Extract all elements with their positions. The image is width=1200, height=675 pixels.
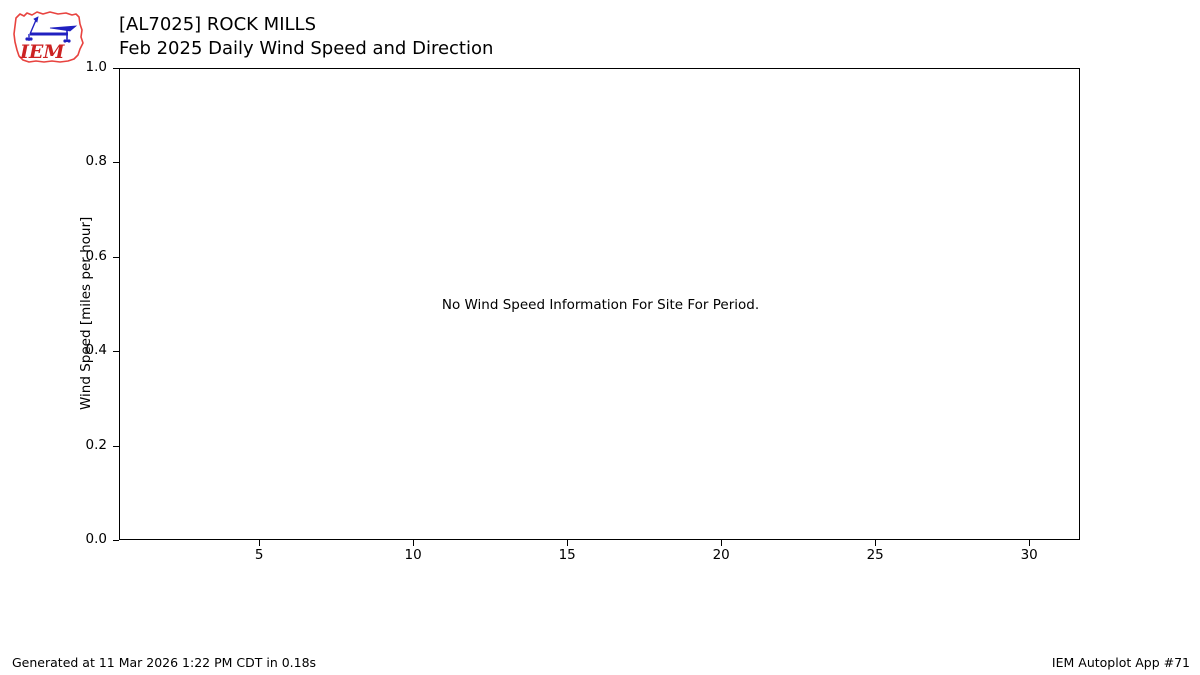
- y-tick-label: 0.2: [47, 438, 107, 452]
- plot-area: No Wind Speed Information For Site For P…: [119, 68, 1080, 540]
- x-tick-mark: [413, 540, 414, 546]
- x-tick-mark: [259, 540, 260, 546]
- chart-title-line-1: [AL7025] ROCK MILLS: [119, 13, 493, 37]
- no-data-message: No Wind Speed Information For Site For P…: [120, 69, 1081, 541]
- y-tick-mark: [113, 540, 119, 541]
- y-tick-label: 0.4: [47, 343, 107, 357]
- y-axis-label: Wind Speed [miles per hour]: [78, 190, 94, 410]
- x-tick-label: 5: [229, 548, 289, 562]
- x-tick-mark: [1029, 540, 1030, 546]
- footer-app-text: IEM Autoplot App #71: [1052, 655, 1190, 670]
- x-tick-label: 25: [845, 548, 905, 562]
- chart-title-block: [AL7025] ROCK MILLS Feb 2025 Daily Wind …: [119, 13, 493, 61]
- autoplot-figure: IEM [AL7025] ROCK MILLS Feb 2025 Daily W…: [0, 0, 1200, 675]
- x-tick-label: 30: [999, 548, 1059, 562]
- x-tick-label: 20: [691, 548, 751, 562]
- x-tick-mark: [721, 540, 722, 546]
- anemometer-icon: [25, 17, 76, 43]
- iem-logo[interactable]: IEM: [10, 8, 88, 66]
- y-tick-label: 0.6: [47, 249, 107, 263]
- x-tick-mark: [567, 540, 568, 546]
- y-tick-label: 0.8: [47, 154, 107, 168]
- chart-title-line-2: Feb 2025 Daily Wind Speed and Direction: [119, 37, 493, 61]
- y-tick-label: 0.0: [47, 532, 107, 546]
- x-tick-mark: [875, 540, 876, 546]
- iem-wordmark: IEM: [19, 41, 65, 63]
- x-tick-label: 15: [537, 548, 597, 562]
- x-tick-label: 10: [383, 548, 443, 562]
- footer-generated-text: Generated at 11 Mar 2026 1:22 PM CDT in …: [12, 655, 316, 670]
